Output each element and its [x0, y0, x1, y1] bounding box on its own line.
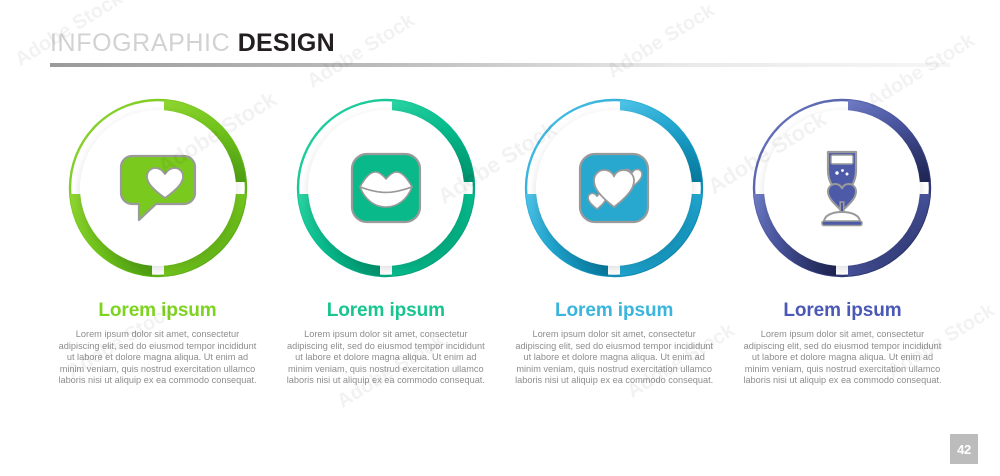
badge-2[interactable] [286, 88, 486, 288]
caption-body-1: Lorem ipsum dolor sit amet, consectetur … [50, 329, 265, 387]
caption-1: Lorem ipsum Lorem ipsum dolor sit amet, … [50, 300, 265, 387]
infographic-item-2[interactable]: Lorem ipsum Lorem ipsum dolor sit amet, … [278, 88, 493, 387]
wine-glass-heart-icon [801, 147, 883, 229]
caption-title-2: Lorem ipsum [278, 300, 493, 322]
badge-core-3 [536, 110, 692, 266]
infographic-item-1[interactable]: Lorem ipsum Lorem ipsum dolor sit amet, … [50, 88, 265, 387]
page-title-bold: DESIGN [238, 29, 335, 57]
header-divider [50, 63, 950, 67]
page-number-badge: 42 [950, 434, 978, 464]
infographic-columns: Lorem ipsum Lorem ipsum dolor sit amet, … [50, 88, 950, 387]
smiling-lips-icon [345, 147, 427, 229]
caption-4: Lorem ipsum Lorem ipsum dolor sit amet, … [735, 300, 950, 387]
page-title: INFOGRAPHIC DESIGN [50, 28, 950, 58]
page-title-light: INFOGRAPHIC [50, 29, 230, 57]
caption-2: Lorem ipsum Lorem ipsum dolor sit amet, … [278, 300, 493, 387]
badge-core-2 [308, 110, 464, 266]
infographic-item-3[interactable]: Lorem ipsum Lorem ipsum dolor sit amet, … [507, 88, 722, 387]
caption-body-4: Lorem ipsum dolor sit amet, consectetur … [735, 329, 950, 387]
caption-title-3: Lorem ipsum [507, 300, 722, 322]
caption-title-1: Lorem ipsum [50, 300, 265, 322]
badge-4[interactable] [742, 88, 942, 288]
caption-3: Lorem ipsum Lorem ipsum dolor sit amet, … [507, 300, 722, 387]
speech-bubble-heart-icon [117, 147, 199, 229]
infographic-item-4[interactable]: Lorem ipsum Lorem ipsum dolor sit amet, … [735, 88, 950, 387]
badge-1[interactable] [58, 88, 258, 288]
badge-core-4 [764, 110, 920, 266]
header: INFOGRAPHIC DESIGN [50, 28, 950, 67]
badge-3[interactable] [514, 88, 714, 288]
caption-body-3: Lorem ipsum dolor sit amet, consectetur … [507, 329, 722, 387]
caption-title-4: Lorem ipsum [735, 300, 950, 322]
hearts-icon [573, 147, 655, 229]
caption-body-2: Lorem ipsum dolor sit amet, consectetur … [278, 329, 493, 387]
badge-core-1 [80, 110, 236, 266]
